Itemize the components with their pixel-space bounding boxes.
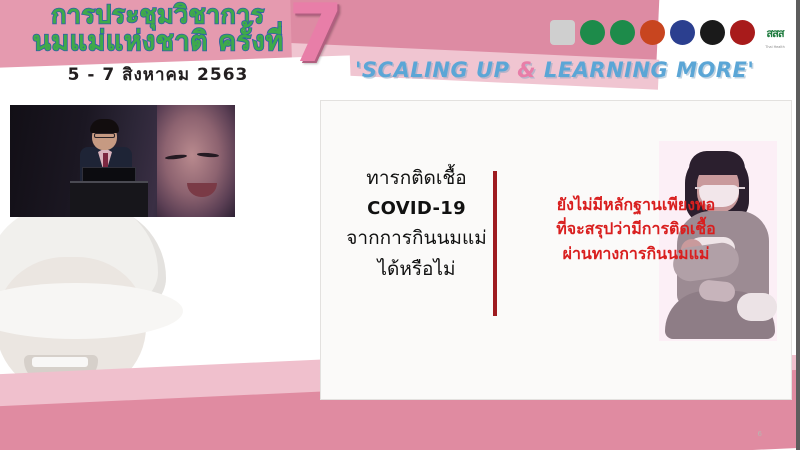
illustration-hair-bangs	[689, 151, 745, 175]
podium	[70, 181, 148, 217]
sponsor-logo-strip: สสส Thai Health	[550, 20, 790, 45]
slide-screen: การประชุมวิชาการ นมแม่แห่งชาติ ครั้งที่ …	[0, 0, 800, 450]
conference-title-line2: นมแม่แห่งชาติ ครั้งที่	[18, 28, 298, 55]
slide-content-panel: ทารกติดเชื้อ COVID-19 จากการกินนมแม่ ได้…	[320, 100, 792, 400]
answer-line-2: ที่จะสรุปว่ามีการติดเชื้อ	[501, 217, 771, 241]
question-line-3: จากการกินนมแม่	[339, 223, 494, 254]
question-line-1: ทารกติดเชื้อ	[339, 163, 494, 194]
slogan-prefix: 'SCALING UP	[355, 58, 517, 82]
projected-baby-eye-right	[197, 152, 219, 158]
slogan-suffix: LEARNING MORE'	[536, 58, 754, 82]
right-edge-border	[796, 0, 800, 450]
logo-nursing-council	[700, 20, 725, 45]
logo-thaihealth-caption: สสส	[760, 24, 790, 42]
conference-date-range: 5 - 7 สิงหาคม 2563	[18, 61, 298, 88]
slide-page-number: 6	[758, 430, 762, 438]
logo-royal-college	[640, 20, 665, 45]
logo-thaihealth-subcaption: Thai Health	[760, 45, 790, 49]
speaker-hair	[90, 119, 119, 133]
slogan-ampersand: &	[517, 58, 536, 82]
conference-title-line1: การประชุมวิชาการ	[18, 2, 298, 27]
answer-line-1: ยังไม่มีหลักฐานเพียงพอ	[501, 193, 771, 217]
logo-thaihealth: สสส Thai Health	[760, 20, 790, 45]
logo-thai-breastfeeding-foundation	[550, 20, 575, 45]
conference-title-block: การประชุมวิชาการ นมแม่แห่งชาติ ครั้งที่ …	[18, 2, 298, 88]
projected-baby-eye-left	[165, 154, 187, 160]
projected-baby-mouth	[187, 183, 217, 197]
logo-university-emblem	[730, 20, 755, 45]
illustration-knee	[737, 293, 777, 321]
vertical-divider	[493, 171, 497, 316]
logo-thai-pediatric-society	[670, 20, 695, 45]
speaker-glasses	[94, 133, 115, 138]
speaker-video-feed[interactable]	[10, 105, 235, 217]
question-line-4: ได้หรือไม่	[339, 254, 494, 285]
question-line-2: COVID-19	[339, 194, 494, 223]
conference-slogan: 'SCALING UP & LEARNING MORE'	[355, 58, 754, 82]
answer-line-3: ผ่านทางการกินนมแม่	[501, 242, 771, 266]
conference-header-banner: การประชุมวิชาการ นมแม่แห่งชาติ ครั้งที่ …	[0, 0, 800, 100]
answer-text-block: ยังไม่มีหลักฐานเพียงพอ ที่จะสรุปว่ามีการ…	[501, 193, 771, 266]
conference-edition-number: 7	[288, 0, 344, 74]
logo-department-of-health	[610, 20, 635, 45]
logo-ministry-of-public-health	[580, 20, 605, 45]
video-projected-baby-image	[157, 105, 235, 217]
watermark-hat-brim	[0, 283, 183, 339]
question-text-block: ทารกติดเชื้อ COVID-19 จากการกินนมแม่ ได้…	[339, 163, 494, 284]
